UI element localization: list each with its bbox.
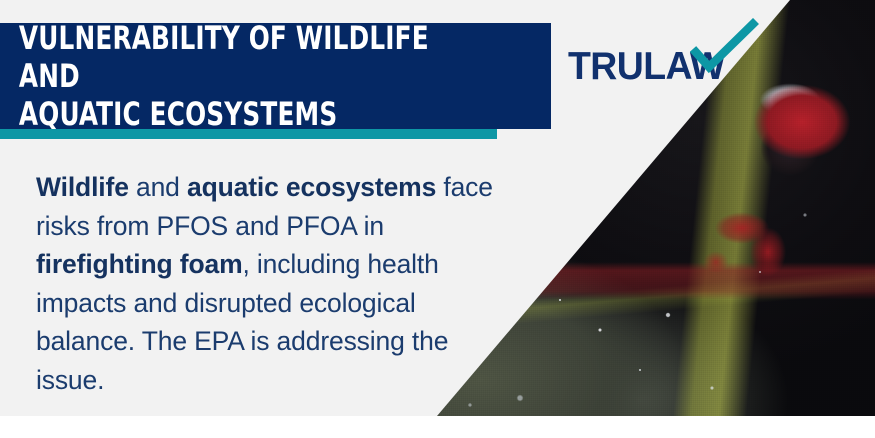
body-segment-2: aquatic ecosystems <box>187 172 436 202</box>
page-title: VULNERABILITY OF WILDLIFE AND AQUATIC EC… <box>0 19 474 133</box>
body-paragraph: Wildlife and aquatic ecosystems face ris… <box>36 168 506 399</box>
body-segment-0: Wildlife <box>36 172 129 202</box>
body-segment-1: and <box>129 172 187 202</box>
title-accent-rule <box>0 129 497 139</box>
title-banner: VULNERABILITY OF WILDLIFE AND AQUATIC EC… <box>0 23 551 129</box>
body-segment-4: firefighting foam <box>36 249 243 279</box>
infographic-canvas: VULNERABILITY OF WILDLIFE AND AQUATIC EC… <box>0 0 875 438</box>
checkmark-icon <box>690 18 760 76</box>
bottom-white-strip <box>0 416 875 438</box>
